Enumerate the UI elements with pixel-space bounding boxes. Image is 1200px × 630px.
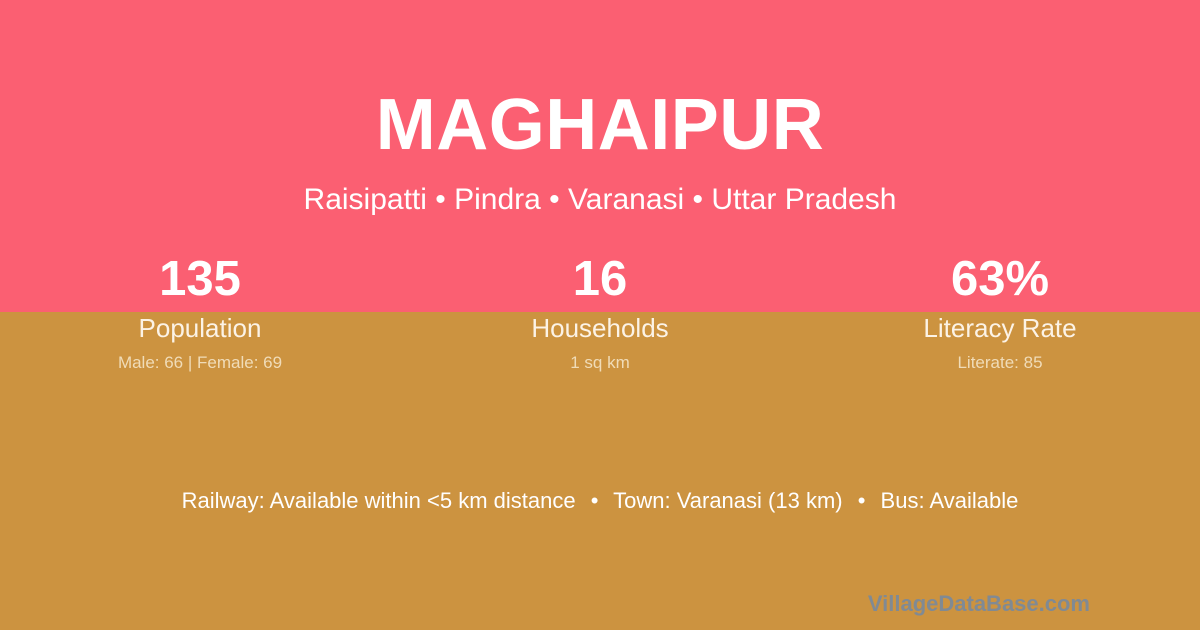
breadcrumb: Raisipatti • Pindra • Varanasi • Uttar P… — [0, 181, 1200, 219]
stat-households-label: Households — [400, 312, 800, 344]
amenity-separator-icon: • — [849, 487, 875, 515]
page-title: MAGHAIPUR — [0, 84, 1200, 166]
amenities-line: Railway: Available within <5 km distance… — [0, 487, 1200, 515]
stat-population-sub: Male: 66 | Female: 69 — [0, 352, 400, 374]
stat-households: 16 Households 1 sq km — [400, 246, 800, 374]
amenity-railway: Railway: Available within <5 km distance — [182, 488, 576, 513]
stat-population: 135 Population Male: 66 | Female: 69 — [0, 246, 400, 374]
stat-literacy-rate-label: Literacy Rate — [800, 312, 1200, 344]
stat-population-value: 135 — [0, 246, 400, 312]
stat-population-label: Population — [0, 312, 400, 344]
stat-literacy-rate-sub: Literate: 85 — [800, 352, 1200, 374]
stat-households-value: 16 — [400, 246, 800, 312]
village-info-card: MAGHAIPUR Raisipatti • Pindra • Varanasi… — [0, 0, 1200, 630]
amenity-bus: Bus: Available — [881, 488, 1019, 513]
stat-literacy-rate-value: 63% — [800, 246, 1200, 312]
stat-households-sub: 1 sq km — [400, 352, 800, 374]
amenity-separator-icon: • — [582, 487, 608, 515]
site-brand-watermark: VillageDataBase.com — [868, 590, 1090, 618]
stats-row: 135 Population Male: 66 | Female: 69 16 … — [0, 246, 1200, 374]
stat-literacy-rate: 63% Literacy Rate Literate: 85 — [800, 246, 1200, 374]
amenity-town: Town: Varanasi (13 km) — [613, 488, 842, 513]
